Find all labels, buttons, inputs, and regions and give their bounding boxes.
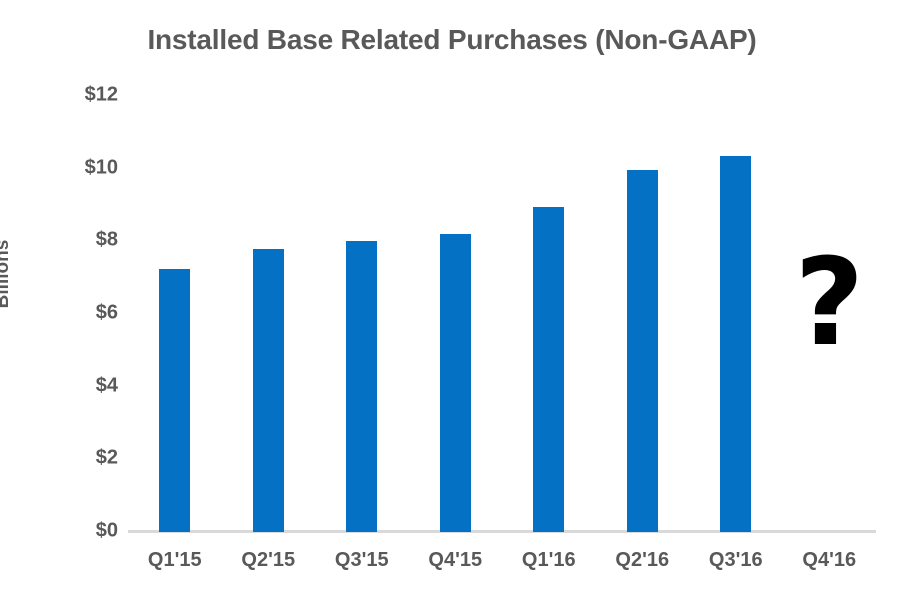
y-tick-label: $8 xyxy=(8,229,118,252)
bar-slot xyxy=(596,81,690,532)
y-tick-label: $6 xyxy=(8,302,118,325)
question-mark-annotation: ? xyxy=(774,249,884,359)
bar-slot xyxy=(502,81,596,532)
chart-title: Installed Base Related Purchases (Non-GA… xyxy=(0,24,904,56)
x-tick-label: Q2'15 xyxy=(222,549,316,572)
bar[interactable] xyxy=(533,207,564,532)
bar[interactable] xyxy=(253,249,284,532)
y-axis-tick-labels: $0$2$4$6$8$10$12 xyxy=(0,0,118,603)
y-tick-label: $10 xyxy=(8,156,118,179)
x-axis-tick-labels: Q1'15Q2'15Q3'15Q4'15Q1'16Q2'16Q3'16Q4'16 xyxy=(128,549,876,589)
bar[interactable] xyxy=(440,234,471,532)
bar[interactable] xyxy=(346,241,377,532)
bar-slot xyxy=(315,81,409,532)
x-tick-label: Q1'15 xyxy=(128,549,222,572)
x-tick-label: Q3'15 xyxy=(315,549,409,572)
bar[interactable] xyxy=(159,269,190,532)
plot-area xyxy=(128,80,876,532)
bar[interactable] xyxy=(627,170,658,532)
y-tick-label: $12 xyxy=(8,84,118,107)
x-tick-label: Q4'15 xyxy=(409,549,503,572)
x-tick-label: Q2'16 xyxy=(596,549,690,572)
y-tick-label: $2 xyxy=(8,447,118,470)
bar-slot xyxy=(222,81,316,532)
bar-slot xyxy=(689,81,783,532)
y-tick-label: $4 xyxy=(8,374,118,397)
x-tick-label: Q1'16 xyxy=(502,549,596,572)
x-tick-label: Q3'16 xyxy=(689,549,783,572)
bar-chart: Installed Base Related Purchases (Non-GA… xyxy=(0,0,904,603)
bar-slot xyxy=(128,81,222,532)
y-tick-label: $0 xyxy=(8,520,118,543)
bar-slot xyxy=(409,81,503,532)
x-tick-label: Q4'16 xyxy=(783,549,877,572)
bar[interactable] xyxy=(720,156,751,532)
